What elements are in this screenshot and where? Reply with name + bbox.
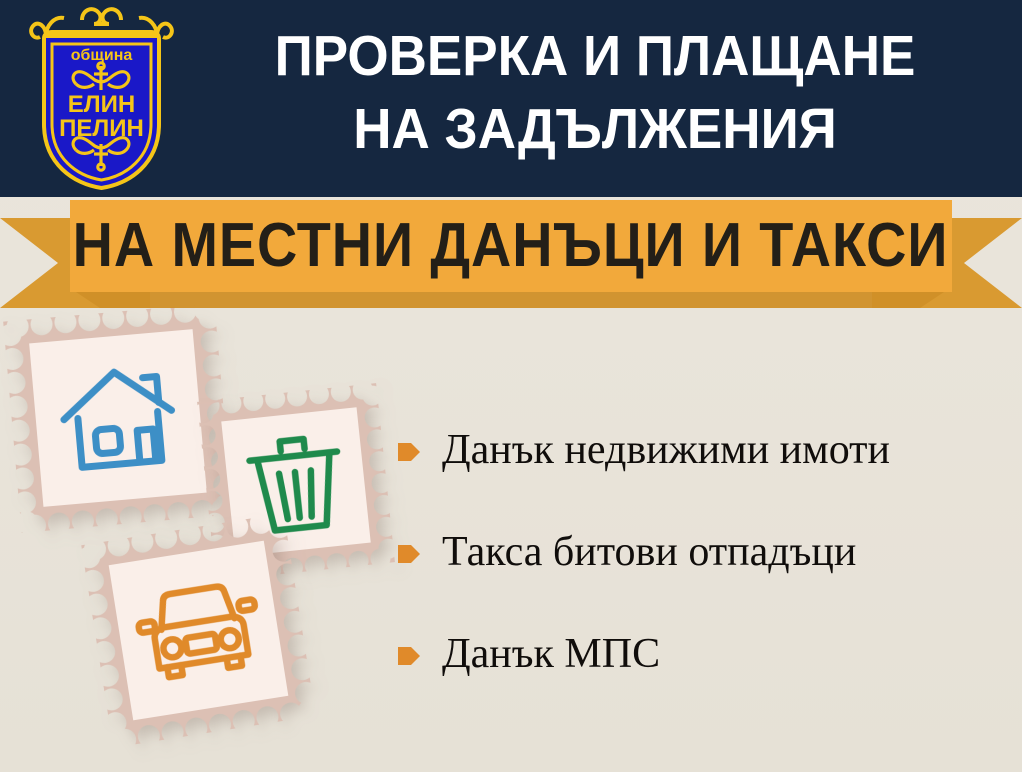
arrow-bullet-icon [398,644,420,668]
poster-canvas: община ЕЛИН ПЕЛИН ПРОВЕРКА И ПЛАЩАНЕ НА … [0,0,1022,772]
page-title-line-1: ПРОВЕРКА И ПЛАЩАНЕ [275,24,916,88]
list-item[interactable]: Данък МПС [398,628,1018,680]
arrow-bullet-icon [398,542,420,566]
page-title-line-2: НА ЗАДЪЛЖЕНИЯ [214,93,977,166]
list-item[interactable]: Данък недвижими имоти [398,424,1018,476]
list-item-label: Такса битови отпадъци [442,529,856,575]
logo-main-text-2: ПЕЛИН [59,115,144,142]
logo-top-text: община [71,47,133,64]
list-item[interactable]: Такса битови отпадъци [398,526,1018,578]
list-item-label: Данък МПС [442,631,660,677]
logo-main-text-1: ЕЛИН [68,91,135,118]
list-item-label: Данък недвижими имоти [442,427,890,473]
ribbon-label: НА МЕСТНИ ДАНЪЦИ И ТАКСИ [73,215,949,277]
subtitle-ribbon: НА МЕСТНИ ДАНЪЦИ И ТАКСИ [0,196,1022,314]
arrow-bullet-icon [398,440,420,464]
page-title: ПРОВЕРКА И ПЛАЩАНЕ НА ЗАДЪЛЖЕНИЯ [214,20,977,166]
tax-type-list: Данък недвижими имоти Такса битови отпад… [398,424,1018,680]
ribbon-banner: НА МЕСТНИ ДАНЪЦИ И ТАКСИ [70,200,952,292]
municipality-logo: община ЕЛИН ПЕЛИН [24,4,179,192]
stamp-collage [0,300,420,772]
header-bar: община ЕЛИН ПЕЛИН ПРОВЕРКА И ПЛАЩАНЕ НА … [0,0,1022,197]
stamp-car [81,513,316,748]
